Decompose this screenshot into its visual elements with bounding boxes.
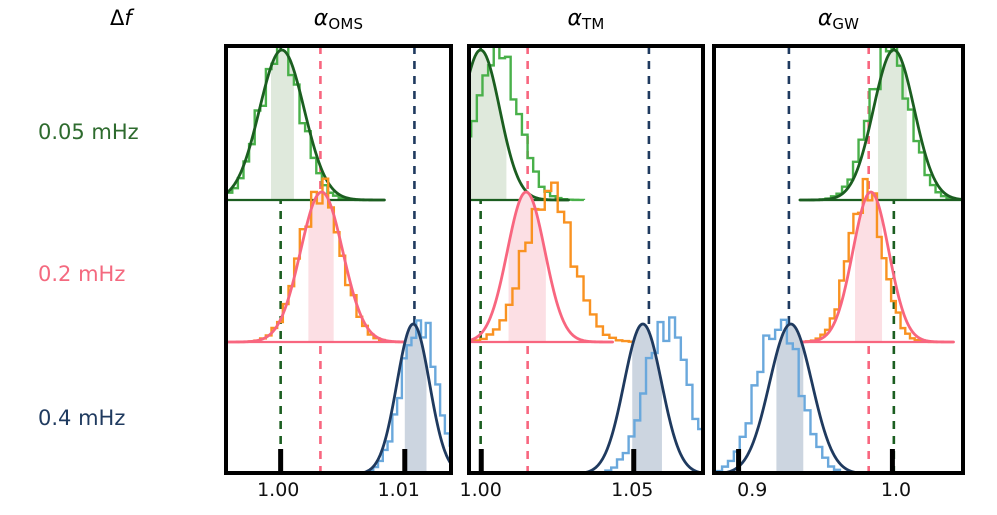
alpha-subscript-oms: OMS: [328, 15, 363, 33]
credible-band: [776, 324, 803, 474]
x-tick-label: 1.01: [378, 479, 420, 501]
column-header-gw: αGW: [712, 6, 965, 33]
column-header-oms: αOMS: [224, 6, 453, 33]
x-tick-label: 1.00: [257, 479, 299, 501]
alpha-symbol-tm: α: [567, 6, 582, 31]
delta-f-text: Δf: [110, 6, 132, 30]
figure-root: Δf αOMS αTM αGW 0.05 mHz 0.2 mHz 0.4 mHz…: [0, 0, 997, 515]
credible-band: [271, 50, 294, 200]
panel-alpha-oms: [224, 44, 453, 475]
row-label-0-05: 0.05 mHz: [38, 120, 139, 144]
panel-alpha-tm: [467, 44, 705, 475]
panel-background: [712, 44, 965, 475]
alpha-subscript-tm: TM: [582, 15, 605, 33]
row-label-0-2: 0.2 mHz: [38, 262, 125, 286]
column-header-tm: αTM: [467, 6, 705, 33]
alpha-symbol-oms: α: [314, 6, 329, 31]
row-label-0-4: 0.4 mHz: [38, 406, 125, 430]
alpha-symbol-gw: α: [818, 6, 833, 31]
x-tick-label: 1.00: [459, 479, 501, 501]
alpha-subscript-gw: GW: [832, 15, 859, 33]
delta-f-corner-label: Δf: [110, 6, 132, 30]
panel-background: [467, 44, 705, 475]
x-tick-label: 1.05: [611, 479, 653, 501]
x-tick-label: 1.0: [881, 479, 911, 501]
x-tick-label: 0.9: [737, 479, 767, 501]
panel-alpha-gw: [712, 44, 965, 475]
